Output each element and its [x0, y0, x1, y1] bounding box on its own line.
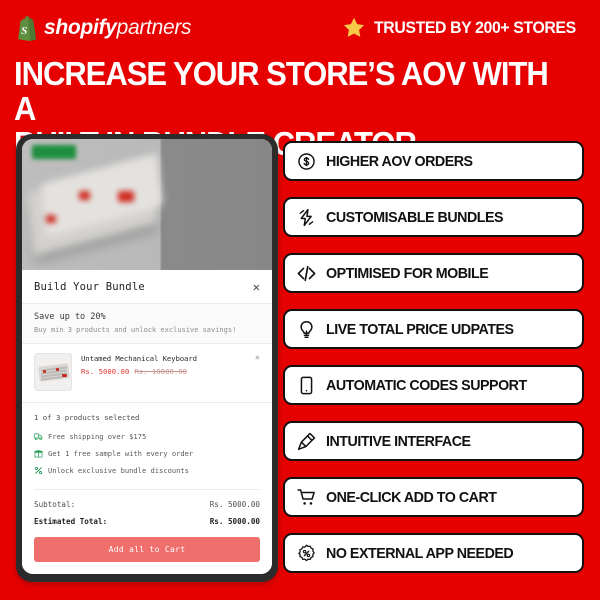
perk-item: Unlock exclusive bundle discounts — [34, 466, 260, 475]
feature-label: HIGHER AOV ORDERS — [326, 153, 473, 170]
sale-badge — [32, 145, 76, 159]
estimated-total-label: Estimated Total: — [34, 517, 107, 526]
bundle-sheet: Build Your Bundle ✕ Save up to 20% Buy m… — [22, 270, 272, 574]
total-row-subtotal: Subtotal: Rs. 5000.00 — [34, 496, 260, 513]
feature-label: CUSTOMISABLE BUNDLES — [326, 209, 503, 226]
trusted-badge: TRUSTED BY 200+ STORES — [342, 16, 584, 40]
shopify-partners-logo: S shopifypartners — [14, 15, 191, 41]
brand-name-light: partners — [117, 16, 192, 39]
feature-item-one-click-add-to-cart[interactable]: ONE-CLICK ADD TO CART — [283, 477, 584, 517]
perk-item: Free shipping over $175 — [34, 432, 260, 441]
perk-label: Free shipping over $175 — [48, 432, 146, 441]
lightbulb-icon — [297, 320, 316, 339]
perk-label: Unlock exclusive bundle discounts — [48, 466, 189, 475]
feature-item-intuitive-interface[interactable]: INTUITIVE INTERFACE — [283, 421, 584, 461]
bundle-product-row[interactable]: Untamed Mechanical Keyboard Rs. 5000.00R… — [22, 344, 272, 403]
promo-subtitle: Buy min 3 products and unlock exclusive … — [34, 326, 260, 334]
svg-text:S: S — [21, 25, 27, 37]
perk-item: Get 1 free sample with every order — [34, 449, 260, 458]
brush-icon — [297, 432, 316, 451]
bundle-sheet-header: Build Your Bundle ✕ — [22, 270, 272, 304]
hero-accent-key — [79, 191, 90, 200]
keyboard-thumbnail-icon — [34, 353, 72, 391]
shopping-cart-icon — [297, 488, 316, 507]
product-price-original: Rs. 10000.00 — [134, 367, 187, 376]
feature-label: NO EXTERNAL APP NEEDED — [326, 545, 513, 562]
hero-accent-key — [118, 191, 134, 202]
product-prices: Rs. 5000.00Rs. 10000.00 — [81, 367, 240, 376]
selection-count: 1 of 3 products selected — [34, 413, 260, 422]
product-price-current: Rs. 5000.00 — [81, 367, 129, 376]
top-header: S shopifypartners TRUSTED BY 200+ STORES — [0, 0, 600, 56]
feature-item-customisable-bundles[interactable]: CUSTOMISABLE BUNDLES — [283, 197, 584, 237]
lightning-bolt-icon — [297, 208, 316, 227]
mobile-phone-icon — [297, 376, 316, 395]
subtotal-label: Subtotal: — [34, 500, 75, 509]
phone-mockup: Build Your Bundle ✕ Save up to 20% Buy m… — [16, 134, 278, 582]
shipping-truck-icon — [34, 432, 43, 441]
feature-label: OPTIMISED FOR MOBILE — [326, 265, 488, 282]
phone-screen: Build Your Bundle ✕ Save up to 20% Buy m… — [22, 139, 272, 574]
add-all-to-cart-button[interactable]: Add all to Cart — [34, 537, 260, 562]
brand-name-bold: shopify — [44, 16, 117, 39]
remove-product-icon[interactable]: ✕ — [249, 353, 260, 363]
subtotal-value: Rs. 5000.00 — [210, 500, 260, 509]
star-icon — [342, 16, 366, 40]
feature-item-live-total-price-updates[interactable]: LIVE TOTAL PRICE UDPATES — [283, 309, 584, 349]
selection-meta: 1 of 3 products selected — [22, 403, 272, 424]
perks-list: Free shipping over $175 Get 1 free sampl… — [22, 424, 272, 485]
thumb-accent-key — [43, 370, 46, 373]
shopify-bag-icon: S — [14, 15, 37, 41]
close-icon[interactable]: ✕ — [253, 281, 260, 293]
product-hero-image — [22, 139, 272, 279]
bundle-sheet-title: Build Your Bundle — [34, 281, 145, 293]
hero-accent-key — [46, 215, 56, 223]
brand-wordmark: shopifypartners — [44, 16, 191, 40]
code-brackets-icon — [297, 264, 316, 283]
thumb-accent-key — [62, 374, 67, 377]
feature-item-higher-aov-orders[interactable]: HIGHER AOV ORDERS — [283, 141, 584, 181]
feature-label: ONE-CLICK ADD TO CART — [326, 489, 497, 506]
feature-item-automatic-codes-support[interactable]: AUTOMATIC CODES SUPPORT — [283, 365, 584, 405]
feature-label: AUTOMATIC CODES SUPPORT — [326, 377, 527, 394]
dollar-circle-icon — [297, 152, 316, 171]
percent-icon — [34, 466, 43, 475]
estimated-total-value: Rs. 5000.00 — [210, 517, 260, 526]
perk-label: Get 1 free sample with every order — [48, 449, 193, 458]
totals-section: Subtotal: Rs. 5000.00 Estimated Total: R… — [34, 489, 260, 530]
trusted-label: TRUSTED BY 200+ STORES — [374, 19, 576, 38]
feature-item-optimised-for-mobile[interactable]: OPTIMISED FOR MOBILE — [283, 253, 584, 293]
percent-badge-icon — [297, 544, 316, 563]
promo-banner: Save up to 20% Buy min 3 products and un… — [22, 304, 272, 344]
gift-box-icon — [34, 449, 43, 458]
total-row-estimated: Estimated Total: Rs. 5000.00 — [34, 513, 260, 530]
feature-label: LIVE TOTAL PRICE UDPATES — [326, 321, 514, 338]
feature-label: INTUITIVE INTERFACE — [326, 433, 471, 450]
product-name: Untamed Mechanical Keyboard — [81, 354, 240, 363]
thumb-accent-key — [56, 368, 59, 371]
promo-title: Save up to 20% — [34, 312, 260, 322]
product-info: Untamed Mechanical Keyboard Rs. 5000.00R… — [81, 353, 240, 376]
feature-list: HIGHER AOV ORDERS CUSTOMISABLE BUNDLES O… — [283, 141, 584, 589]
feature-item-no-external-app-needed[interactable]: NO EXTERNAL APP NEEDED — [283, 533, 584, 573]
